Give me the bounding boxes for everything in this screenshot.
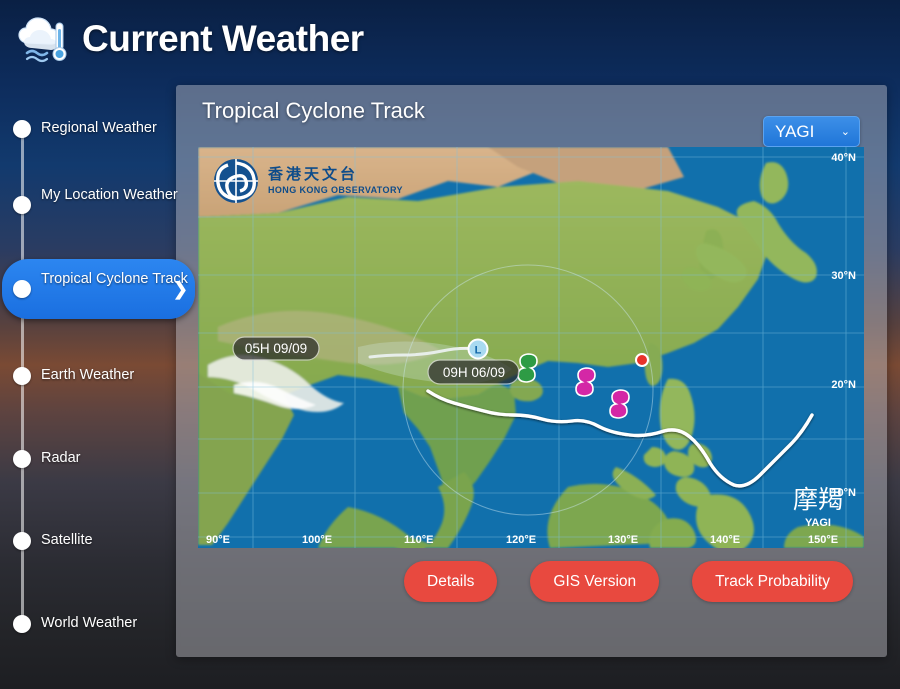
svg-text:120°E: 120°E xyxy=(506,534,536,546)
svg-text:YAGI: YAGI xyxy=(805,517,831,529)
svg-text:05H 09/09: 05H 09/09 xyxy=(245,341,307,356)
sidebar-dot xyxy=(13,280,31,298)
sidebar-dot xyxy=(13,450,31,468)
sidebar-item-label: Tropical Cyclone Track xyxy=(41,270,191,289)
sidebar-item-label: Regional Weather xyxy=(41,119,191,138)
sidebar-item-earth-weather[interactable]: Earth Weather xyxy=(0,364,200,388)
low-pressure-marker: L xyxy=(469,340,488,359)
sidebar-dot xyxy=(13,532,31,550)
svg-text:130°E: 130°E xyxy=(608,534,638,546)
sidebar-dot xyxy=(13,196,31,214)
sidebar-item-label: Satellite xyxy=(41,531,191,550)
current-position-dot xyxy=(636,354,648,366)
page-title: Current Weather xyxy=(82,18,364,60)
main-panel: Tropical Cyclone Track YAGI ⌄ xyxy=(176,85,887,657)
sidebar-item-tropical-cyclone-track[interactable]: Tropical Cyclone Track ❯ xyxy=(0,259,200,319)
sidebar-nav: Regional Weather My Location Weather Tro… xyxy=(0,96,200,656)
chevron-down-icon: ⌄ xyxy=(841,125,850,138)
panel-title: Tropical Cyclone Track xyxy=(202,98,425,124)
sidebar-item-label: My Location Weather xyxy=(41,186,191,205)
svg-text:40°N: 40°N xyxy=(831,152,856,164)
sidebar-item-regional-weather[interactable]: Regional Weather xyxy=(0,117,200,141)
svg-text:HONG KONG OBSERVATORY: HONG KONG OBSERVATORY xyxy=(268,185,403,195)
svg-text:09H 06/09: 09H 06/09 xyxy=(443,365,505,380)
cloud-thermometer-icon xyxy=(14,13,72,65)
sidebar-item-my-location-weather[interactable]: My Location Weather xyxy=(0,183,200,227)
svg-text:30°N: 30°N xyxy=(831,270,856,282)
sidebar-item-label: Radar xyxy=(41,449,191,468)
sidebar-dot xyxy=(13,615,31,633)
track-probability-button[interactable]: Track Probability xyxy=(692,561,853,602)
svg-text:20°N: 20°N xyxy=(831,379,856,391)
sidebar-item-label: World Weather xyxy=(41,614,191,633)
sidebar-item-radar[interactable]: Radar xyxy=(0,447,200,471)
map-action-buttons: Details GIS Version Track Probability xyxy=(198,559,864,604)
svg-text:110°E: 110°E xyxy=(404,534,433,546)
svg-text:140°E: 140°E xyxy=(710,534,740,546)
chevron-right-icon: ❯ xyxy=(173,279,188,300)
svg-text:10°N: 10°N xyxy=(831,487,856,499)
track-callout-first: 05H 09/09 xyxy=(233,337,319,360)
storm-select-dropdown[interactable]: YAGI ⌄ xyxy=(763,116,860,147)
storm-select-value: YAGI xyxy=(775,122,814,142)
svg-text:90°E: 90°E xyxy=(206,534,230,546)
svg-text:香港天文台: 香港天文台 xyxy=(268,165,358,183)
sidebar-item-satellite[interactable]: Satellite xyxy=(0,529,200,553)
sidebar-dot xyxy=(13,367,31,385)
track-callout-second: 09H 06/09 xyxy=(428,360,519,384)
cyclone-track-map[interactable]: L xyxy=(198,147,864,548)
gis-version-button[interactable]: GIS Version xyxy=(530,561,659,602)
app-root: Current Weather Regional Weather My Loca… xyxy=(0,0,900,689)
sidebar-item-world-weather[interactable]: World Weather xyxy=(0,612,200,636)
sidebar-item-label: Earth Weather xyxy=(41,366,191,385)
svg-text:100°E: 100°E xyxy=(302,534,332,546)
page-header: Current Weather xyxy=(0,0,900,78)
sidebar-dot xyxy=(13,120,31,138)
details-button[interactable]: Details xyxy=(404,561,497,602)
svg-text:150°E: 150°E xyxy=(808,534,838,546)
svg-text:L: L xyxy=(475,345,482,357)
